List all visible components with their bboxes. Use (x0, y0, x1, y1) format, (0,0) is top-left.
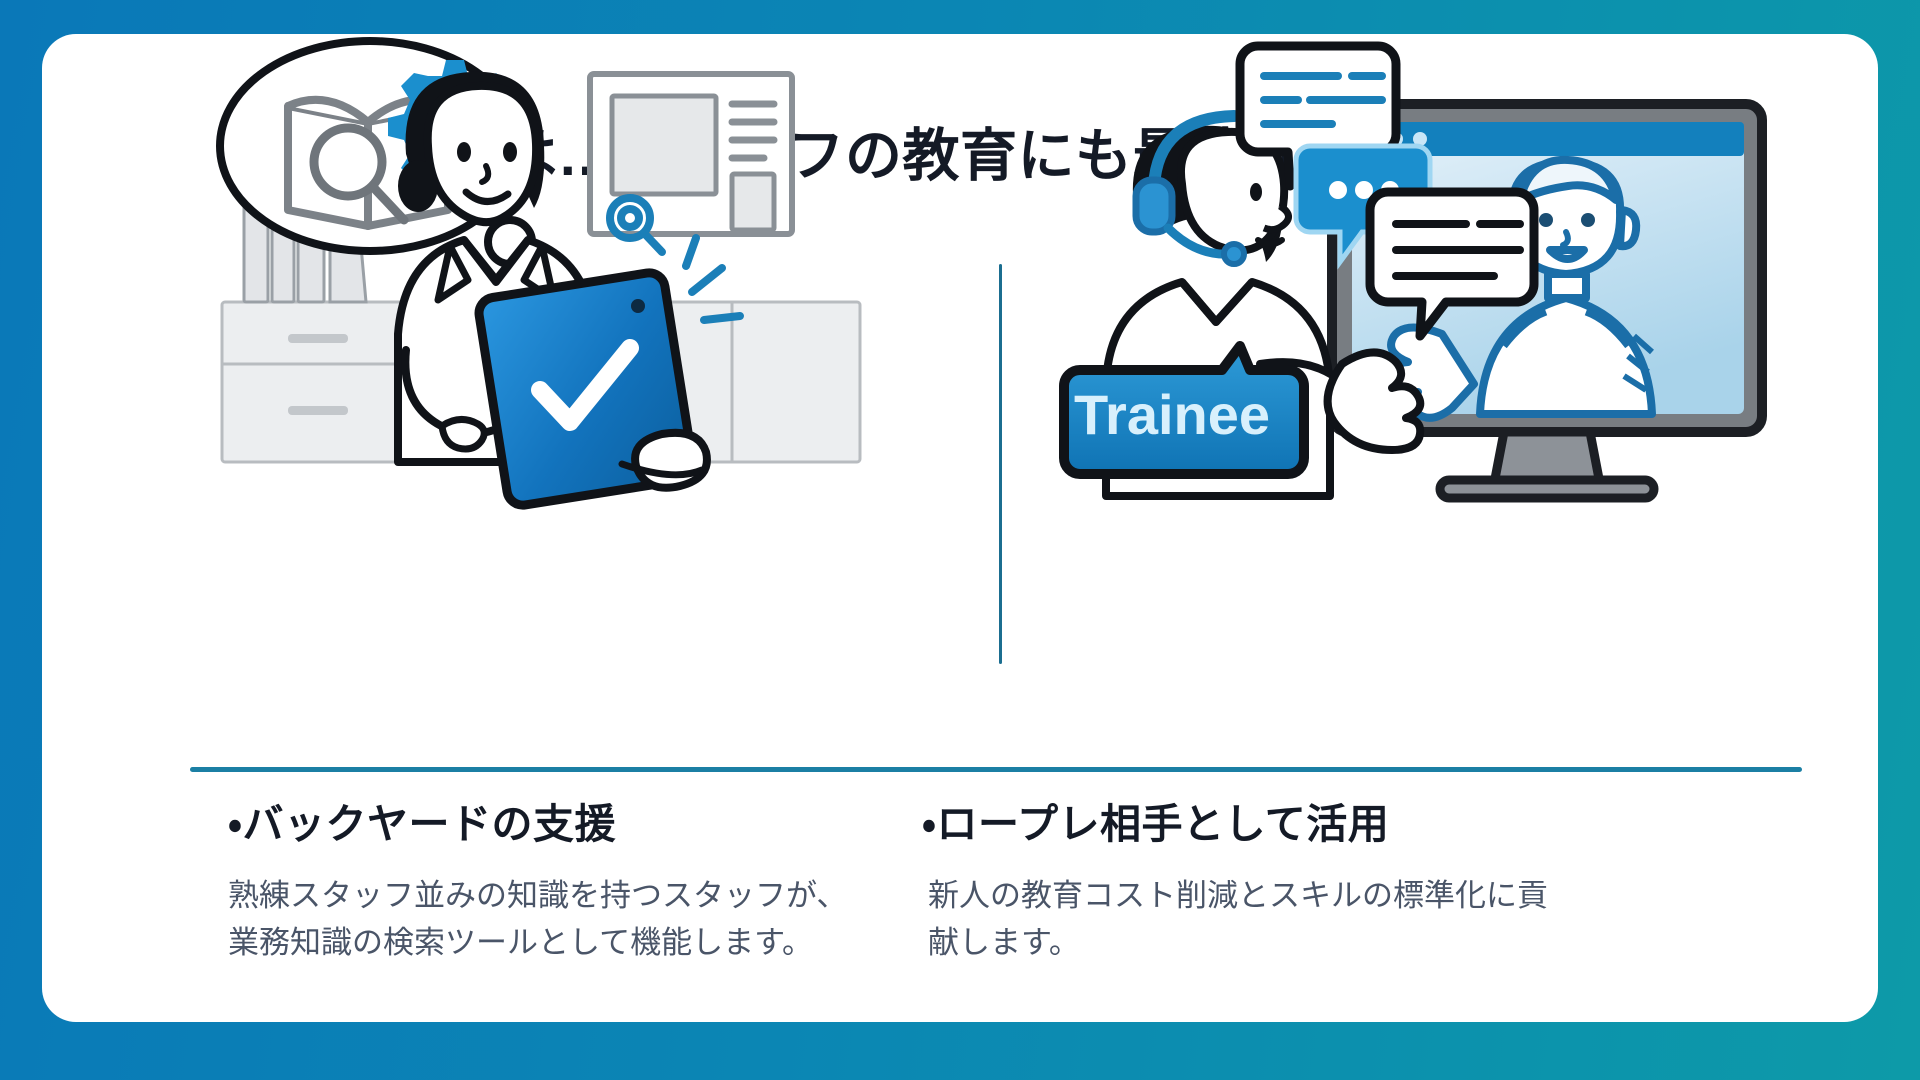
trainee-badge: Trainee (1064, 346, 1304, 474)
column-divider (999, 264, 1002, 664)
caption-heading: ・ロープレ相手として活用 (908, 790, 1608, 850)
caption-body: 新人の教育コスト削減とスキルの標準化に貢献します。 (908, 872, 1548, 966)
trainee-badge-label: Trainee (1074, 383, 1270, 446)
caption-roleplay-partner: ・ロープレ相手として活用 新人の教育コスト削減とスキルの標準化に貢献します。 (908, 790, 1608, 966)
caption-heading: ・バックヤードの支援 (228, 790, 928, 850)
trainee-roleplay-illustration: Trainee (1042, 34, 1802, 534)
cabinet (222, 302, 412, 462)
content-card: 実は…スタッフの教育にも最適なツール (42, 34, 1878, 1022)
caption-backyard-support: ・バックヤードの支援 熟練スタッフ並みの知識を持つスタッフが、業務知識の検索ツー… (228, 790, 928, 966)
slide-root: 実は…スタッフの教育にも最適なツール (0, 0, 1920, 1080)
staff-with-tablet-illustration (192, 34, 952, 534)
caption-body: 熟練スタッフ並みの知識を持つスタッフが、業務知識の検索ツールとして機能します。 (228, 872, 868, 966)
right-section-rule (1062, 767, 1802, 772)
